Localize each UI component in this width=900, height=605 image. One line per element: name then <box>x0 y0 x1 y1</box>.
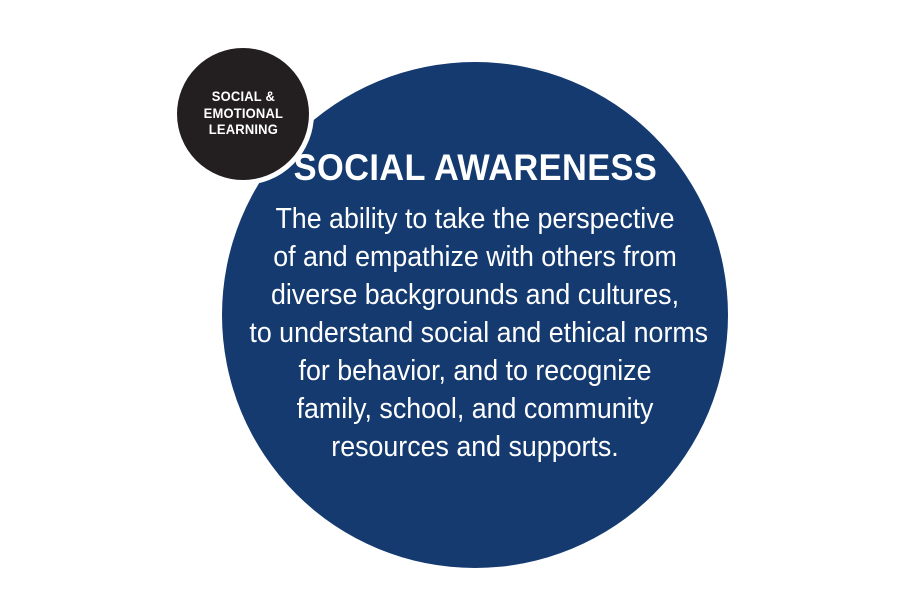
infographic-canvas: SOCIAL AWARENESS The ability to take the… <box>0 0 900 605</box>
badge-line: EMOTIONAL <box>203 106 282 123</box>
badge-line: LEARNING <box>203 122 282 139</box>
description-line: for behavior, and to recognize <box>249 352 700 390</box>
description-line: to understand social and ethical norms <box>249 314 700 352</box>
description-line: of and empathize with others from <box>249 238 700 276</box>
category-badge-label: SOCIAL & EMOTIONAL LEARNING <box>203 89 282 139</box>
circle-description: The ability to take the perspective of a… <box>249 200 700 466</box>
description-line: diverse backgrounds and cultures, <box>249 276 700 314</box>
badge-line: SOCIAL & <box>203 89 282 106</box>
description-line: family, school, and community <box>249 390 700 428</box>
page-title: SOCIAL AWARENESS <box>293 149 656 188</box>
description-line: resources and supports. <box>249 428 700 466</box>
description-line: The ability to take the perspective <box>249 200 700 238</box>
category-badge: SOCIAL & EMOTIONAL LEARNING <box>172 43 314 185</box>
